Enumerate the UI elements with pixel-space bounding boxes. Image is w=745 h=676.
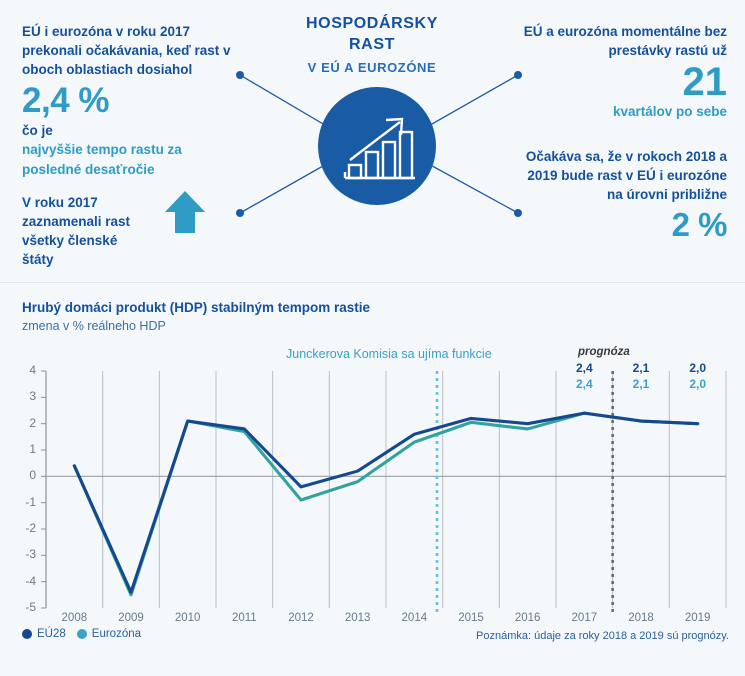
hero-subtitle: V EÚ A EUROZÓNE (272, 60, 472, 75)
hero-block-bottom-right: Očakáva sa, že v rokoch 2018 a 2019 bude… (517, 147, 727, 244)
legend-item-eurozona[interactable]: Eurozóna (77, 628, 141, 640)
legend-label-eurozona: Eurozóna (92, 628, 141, 640)
y-axis-tick-3: 3 (14, 389, 36, 403)
point-label-eurozona-2017: 2,4 (564, 378, 604, 392)
y-axis-tick-4: 4 (14, 363, 36, 377)
x-axis-tick-2011: 2011 (221, 612, 267, 624)
hero-title-line2: RAST (349, 36, 395, 53)
legend-swatch-eurozona (77, 629, 87, 639)
hero-block-top-left: EÚ i eurozóna v roku 2017 prekonali očak… (22, 22, 237, 179)
point-label-eurozona-2018: 2,1 (621, 378, 661, 392)
x-axis-tick-2017: 2017 (561, 612, 607, 624)
x-axis-tick-2019: 2019 (675, 612, 721, 624)
y-axis-tick-neg3: -3 (14, 547, 36, 561)
hero-title-line1: HOSPODÁRSKY (306, 15, 438, 32)
x-axis-tick-2018: 2018 (618, 612, 664, 624)
x-axis-tick-2013: 2013 (335, 612, 381, 624)
y-axis-tick-neg4: -4 (14, 574, 36, 588)
chart-section: Hrubý domáci produkt (HDP) stabilným tem… (0, 283, 745, 676)
x-axis-tick-2009: 2009 (108, 612, 154, 624)
hero-top-left-mid: čo je (22, 123, 53, 138)
x-axis-tick-2016: 2016 (505, 612, 551, 624)
y-axis-tick-1: 1 (14, 442, 36, 456)
hero-top-right-figure: 21 (517, 62, 727, 102)
x-axis-tick-2012: 2012 (278, 612, 324, 624)
hero-top-left-figure: 2,4 % (22, 83, 237, 120)
hero-top-left-lead: EÚ i eurozóna v roku 2017 prekonali očak… (22, 24, 231, 77)
y-axis-tick-neg5: -5 (14, 600, 36, 614)
chart-legend: EÚ28 Eurozóna (22, 628, 141, 640)
y-axis-tick-neg1: -1 (14, 495, 36, 509)
point-label-eurozona-2019: 2,0 (678, 378, 718, 392)
hero-title: HOSPODÁRSKY RAST (272, 14, 472, 56)
y-axis-tick-neg2: -2 (14, 521, 36, 535)
hero-bottom-right-figure: 2 % (517, 208, 727, 243)
chart-note: Poznámka: údaje za roky 2018 a 2019 sú p… (476, 630, 729, 642)
x-axis-tick-2010: 2010 (165, 612, 211, 624)
y-axis-tick-2: 2 (14, 416, 36, 430)
hero-bottom-right-lead: Očakáva sa, že v rokoch 2018 a 2019 bude… (526, 149, 727, 202)
legend-item-eu28[interactable]: EÚ28 (22, 628, 66, 640)
hero-block-top-right: EÚ a eurozóna momentálne bez prestávky r… (517, 22, 727, 121)
x-axis-tick-2014: 2014 (391, 612, 437, 624)
hero-bottom-left-text: V roku 2017 zaznamenali rast všetky člen… (22, 195, 130, 267)
hero-top-left-highlight: najvyššie tempo rastu za posledné desaťr… (22, 140, 237, 178)
point-label-eu28-2018: 2,1 (621, 362, 661, 376)
point-label-eu28-2019: 2,0 (678, 362, 718, 376)
point-label-eu28-2017: 2,4 (564, 362, 604, 376)
x-axis-tick-2008: 2008 (51, 612, 97, 624)
legend-swatch-eu28 (22, 629, 32, 639)
hero-top-right-after: kvartálov po sebe (517, 102, 727, 121)
hero-top-right-lead: EÚ a eurozóna momentálne bez prestávky r… (524, 24, 727, 58)
hero-section: HOSPODÁRSKY RAST V EÚ A EUROZÓNE EÚ i eu… (0, 0, 745, 282)
arrow-up-icon (162, 188, 208, 236)
x-axis-tick-2015: 2015 (448, 612, 494, 624)
hero-block-bottom-left: V roku 2017 zaznamenali rast všetky člen… (22, 193, 152, 270)
y-axis-tick-0: 0 (14, 468, 36, 482)
legend-label-eu28: EÚ28 (37, 628, 66, 640)
